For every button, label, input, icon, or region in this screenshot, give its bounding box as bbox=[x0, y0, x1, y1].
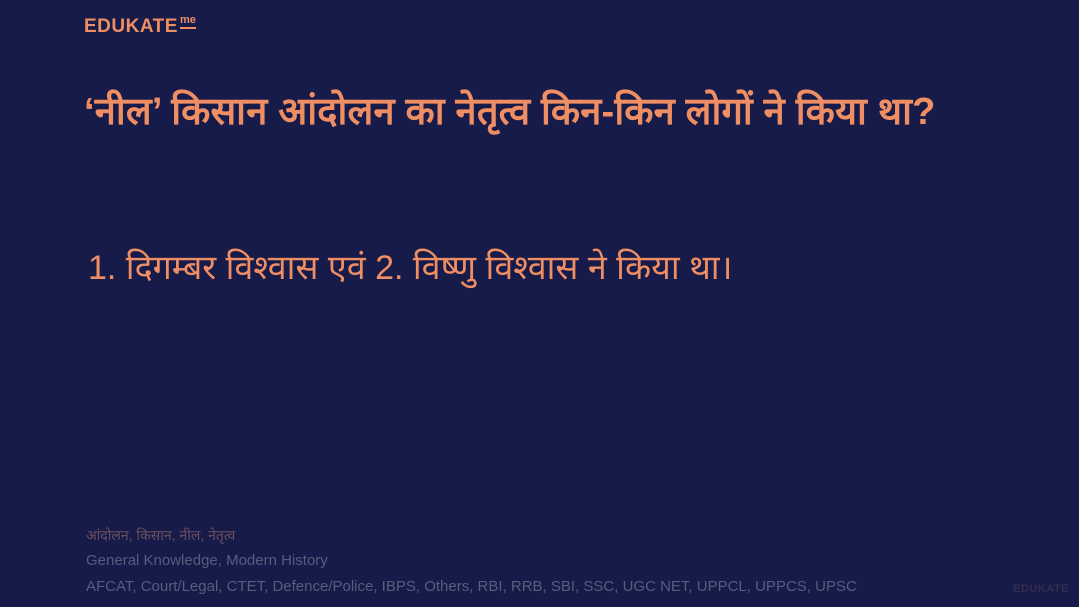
meta-exams: AFCAT, Court/Legal, CTET, Defence/Police… bbox=[86, 574, 986, 600]
meta-tags: आंदोलन, किसान, नील, नेतृत्व bbox=[86, 523, 986, 548]
footer-meta: आंदोलन, किसान, नील, नेतृत्व General Know… bbox=[86, 523, 986, 600]
answer-text: 1. दिगम्बर विश्वास एवं 2. विष्णु विश्वास… bbox=[88, 246, 1008, 292]
corner-watermark: EDUKATE bbox=[1013, 583, 1069, 595]
question-text: ‘नील’ किसान आंदोलन का नेतृत्व किन-किन लो… bbox=[84, 86, 994, 140]
slide-canvas: EDUKATE me ‘नील’ किसान आंदोलन का नेतृत्व… bbox=[0, 0, 1079, 607]
brand-logo[interactable]: EDUKATE me bbox=[84, 17, 196, 36]
brand-suffix: me bbox=[180, 15, 196, 29]
brand-name: EDUKATE bbox=[84, 17, 178, 36]
meta-subjects: General Knowledge, Modern History bbox=[86, 548, 986, 574]
